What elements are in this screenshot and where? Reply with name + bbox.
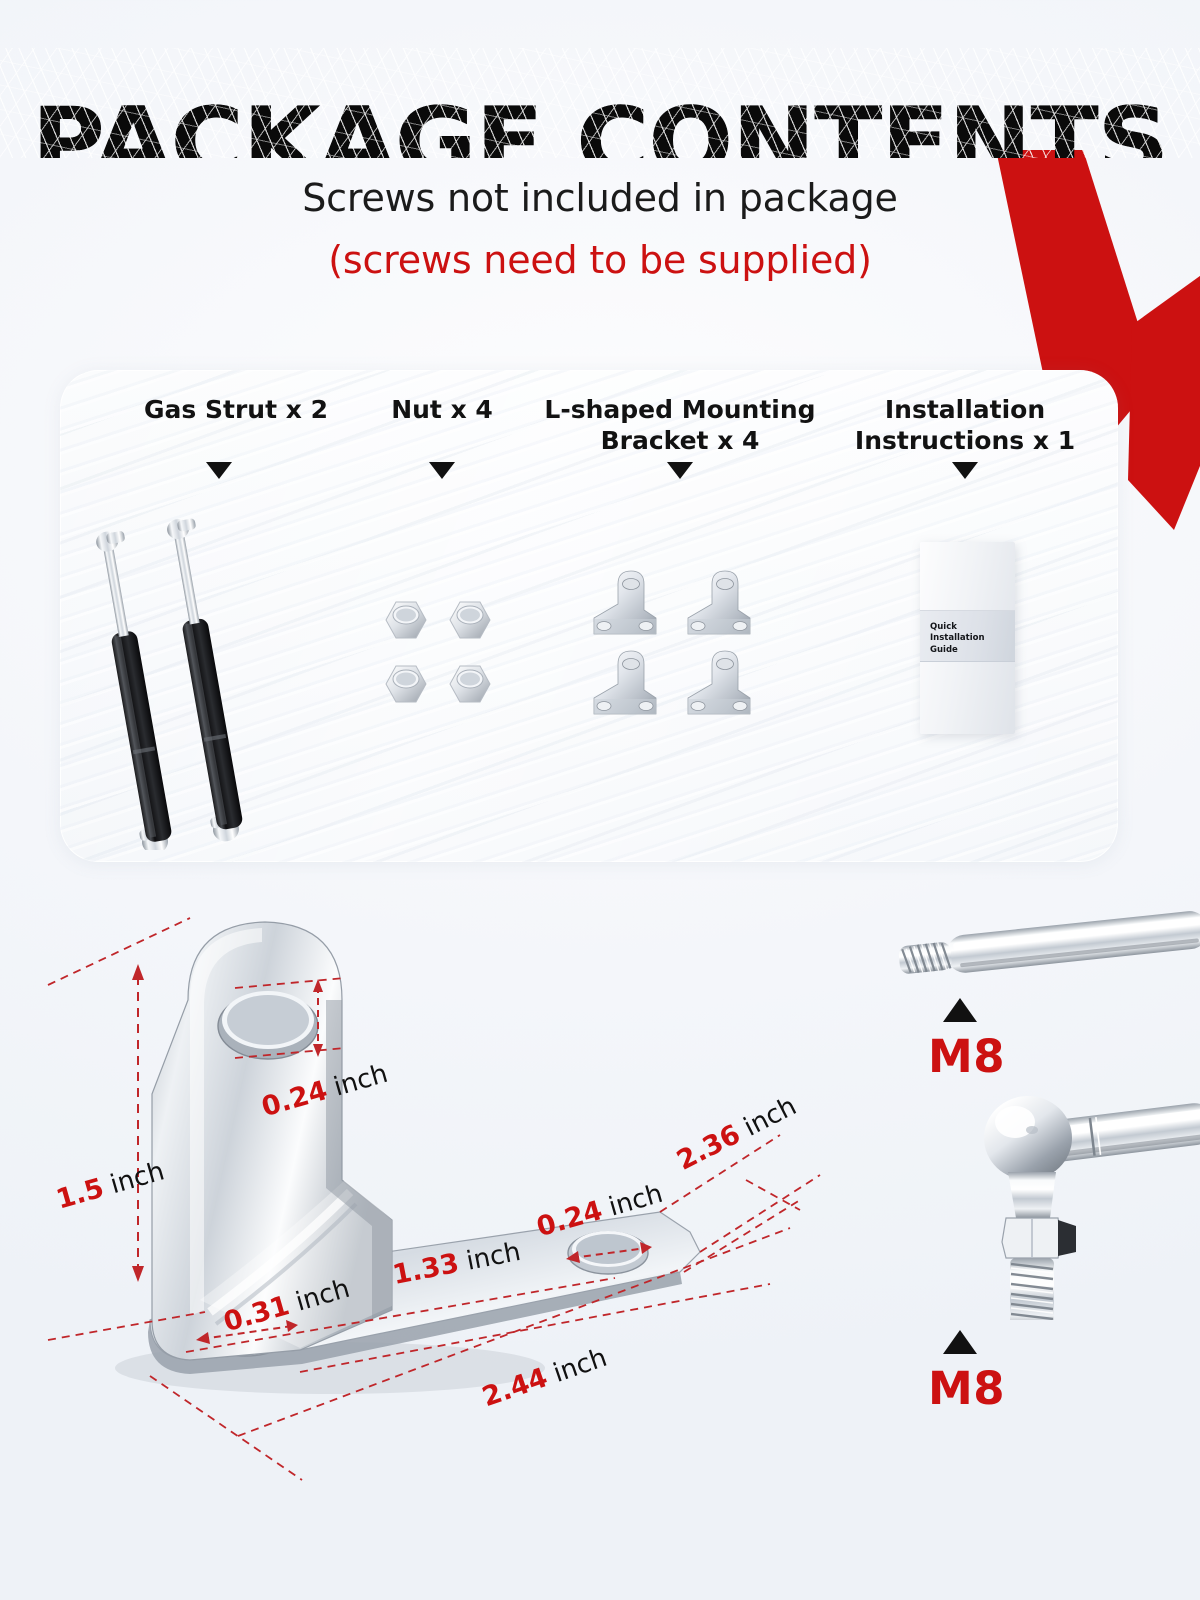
- label-m8-stud: M8: [928, 1362, 1005, 1415]
- booklet-title-line1: Quick Installation: [930, 622, 1008, 645]
- gas-strut-icon: [58, 490, 358, 850]
- subtitle-screws-not-included: Screws not included in package: [0, 176, 1200, 220]
- page-header: PACKAGE CONTENTS Screws not included in …: [0, 0, 1200, 340]
- page-title: PACKAGE CONTENTS: [0, 96, 1200, 158]
- strut-thread-detail: [860, 900, 1200, 1320]
- caret-m8-stud-thread: [943, 1330, 977, 1354]
- page-title-wrap: PACKAGE CONTENTS: [0, 48, 1200, 158]
- manual-booklet-icon: Quick Installation Guide: [920, 542, 1015, 734]
- l-bracket-icon: [588, 562, 778, 728]
- booklet-title-line2: Guide: [930, 645, 1008, 656]
- dimensions-section: .dl { stroke:#c0262a; stroke-width:1.8; …: [0, 880, 1200, 1600]
- label-m8-rod: M8: [928, 1030, 1005, 1083]
- hex-nut-icon: [372, 596, 498, 718]
- caret-m8-rod-thread: [943, 998, 977, 1022]
- subtitle-screws-supplied-note: (screws need to be supplied): [0, 238, 1200, 282]
- bracket-dimension-drawing: .dl { stroke:#c0262a; stroke-width:1.8; …: [0, 880, 880, 1600]
